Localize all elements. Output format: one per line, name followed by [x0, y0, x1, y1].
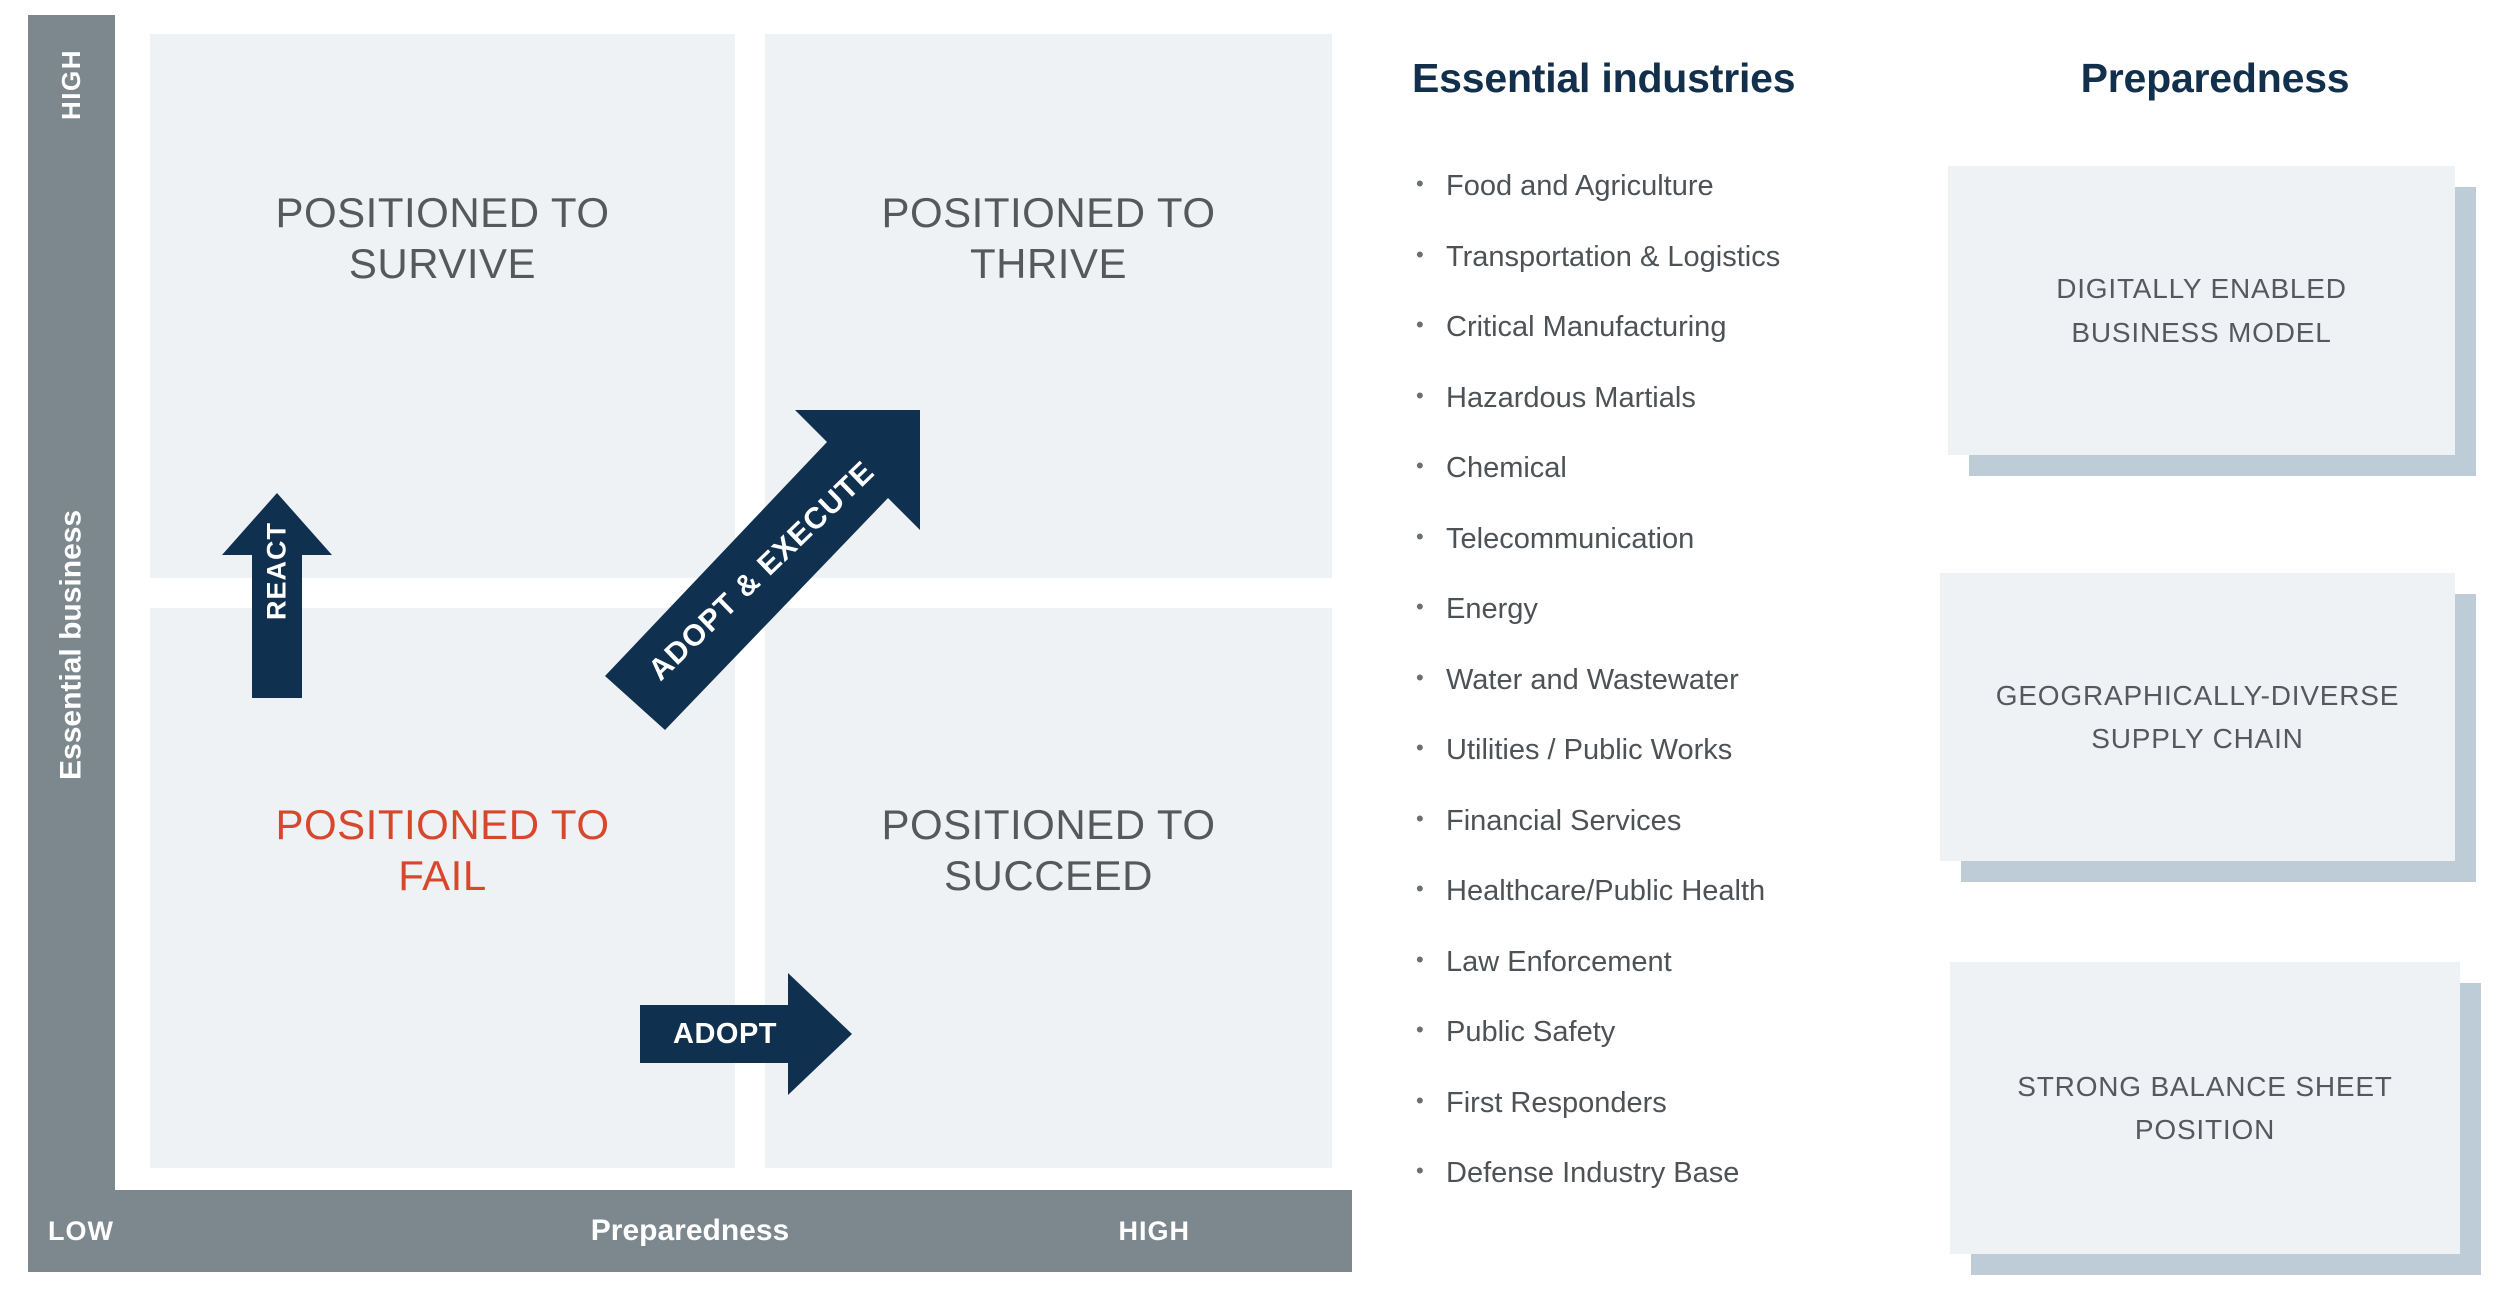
- bullet-icon: •: [1410, 311, 1446, 339]
- bullet-icon: •: [1410, 1157, 1446, 1185]
- bullet-icon: •: [1410, 241, 1446, 269]
- diagram-canvas: HIGH Essential business LOW Preparedness…: [0, 0, 2500, 1292]
- card-surface: STRONG BALANCE SHEET POSITION: [1950, 962, 2460, 1254]
- card-label-line1: GEOGRAPHICALLY-DIVERSE: [1996, 680, 2400, 711]
- preparedness-panel: Preparedness DIGITALLY ENABLED BUSINESS …: [1930, 0, 2500, 1292]
- quadrant-label-line1: POSITIONED TO: [275, 801, 609, 848]
- list-item-label: First Responders: [1446, 1087, 1667, 1120]
- bullet-icon: •: [1410, 805, 1446, 833]
- preparedness-matrix: HIGH Essential business LOW Preparedness…: [0, 0, 1370, 1292]
- list-item-label: Law Enforcement: [1446, 946, 1672, 979]
- preparedness-card[interactable]: STRONG BALANCE SHEET POSITION: [1950, 962, 2460, 1254]
- card-label-line1: STRONG BALANCE SHEET: [2017, 1071, 2392, 1102]
- list-item[interactable]: • Healthcare/Public Health: [1410, 875, 1910, 946]
- list-item-label: Healthcare/Public Health: [1446, 875, 1765, 908]
- bullet-icon: •: [1410, 170, 1446, 198]
- bullet-icon: •: [1410, 875, 1446, 903]
- adopt-execute-arrow: ADOPT & EXECUTE: [595, 390, 940, 750]
- list-item-label: Water and Wastewater: [1446, 664, 1739, 697]
- bullet-icon: •: [1410, 946, 1446, 974]
- x-axis-high-label: HIGH: [1119, 1190, 1191, 1272]
- quadrant-label-line1: POSITIONED TO: [275, 189, 609, 236]
- quadrant-label: POSITIONED TO FAIL: [275, 799, 609, 901]
- bullet-icon: •: [1410, 734, 1446, 762]
- preparedness-card[interactable]: DIGITALLY ENABLED BUSINESS MODEL: [1948, 166, 2455, 455]
- bullet-icon: •: [1410, 593, 1446, 621]
- bullet-icon: •: [1410, 452, 1446, 480]
- quadrant-label-line2: THRIVE: [970, 240, 1127, 287]
- bullet-icon: •: [1410, 523, 1446, 551]
- quadrant-label-line1: POSITIONED TO: [881, 189, 1215, 236]
- card-label: STRONG BALANCE SHEET POSITION: [2017, 1065, 2392, 1152]
- list-item-label: Energy: [1446, 593, 1538, 626]
- adopt-execute-arrow-label: ADOPT & EXECUTE: [595, 390, 940, 750]
- bullet-icon: •: [1410, 382, 1446, 410]
- list-item[interactable]: • Defense Industry Base: [1410, 1157, 1910, 1228]
- essential-industries-list: • Food and Agriculture • Transportation …: [1410, 170, 1910, 1228]
- quadrant-label-line2: SURVIVE: [349, 240, 536, 287]
- react-arrow: REACT: [222, 493, 332, 698]
- card-label: GEOGRAPHICALLY-DIVERSE SUPPLY CHAIN: [1996, 674, 2400, 761]
- quadrant-label: POSITIONED TO THRIVE: [881, 187, 1215, 289]
- list-item-label: Public Safety: [1446, 1016, 1615, 1049]
- card-label-line2: SUPPLY CHAIN: [2091, 723, 2303, 754]
- y-axis-high-label: HIGH: [28, 40, 115, 130]
- list-item[interactable]: • Public Safety: [1410, 1016, 1910, 1087]
- list-item[interactable]: • Energy: [1410, 593, 1910, 664]
- essential-industries-heading: Essential industries: [1412, 55, 1795, 102]
- bullet-icon: •: [1410, 1016, 1446, 1044]
- list-item-label: Financial Services: [1446, 805, 1681, 838]
- list-item[interactable]: • Transportation & Logistics: [1410, 241, 1910, 312]
- list-item[interactable]: • Utilities / Public Works: [1410, 734, 1910, 805]
- list-item-label: Transportation & Logistics: [1446, 241, 1780, 274]
- preparedness-heading: Preparedness: [1930, 55, 2500, 102]
- list-item[interactable]: • Financial Services: [1410, 805, 1910, 876]
- card-label-line2: BUSINESS MODEL: [2071, 317, 2331, 348]
- adopt-arrow: ADOPT: [640, 973, 852, 1095]
- react-arrow-label: REACT: [222, 493, 332, 698]
- y-axis-title: Essential business: [28, 480, 115, 810]
- quadrant-label-line1: POSITIONED TO: [881, 801, 1215, 848]
- list-item[interactable]: • Chemical: [1410, 452, 1910, 523]
- list-item-label: Food and Agriculture: [1446, 170, 1714, 203]
- quadrant-label: POSITIONED TO SURVIVE: [275, 187, 609, 289]
- list-item-label: Defense Industry Base: [1446, 1157, 1739, 1190]
- list-item-label: Chemical: [1446, 452, 1567, 485]
- list-item-label: Utilities / Public Works: [1446, 734, 1732, 767]
- bullet-icon: •: [1410, 1087, 1446, 1115]
- list-item[interactable]: • Telecommunication: [1410, 523, 1910, 594]
- quadrant-label: POSITIONED TO SUCCEED: [881, 799, 1215, 901]
- list-item-label: Critical Manufacturing: [1446, 311, 1726, 344]
- card-label-line2: POSITION: [2135, 1114, 2275, 1145]
- list-item-label: Hazardous Martials: [1446, 382, 1696, 415]
- list-item[interactable]: • First Responders: [1410, 1087, 1910, 1158]
- card-label: DIGITALLY ENABLED BUSINESS MODEL: [2056, 267, 2347, 354]
- essential-industries-panel: Essential industries • Food and Agricult…: [1400, 0, 1920, 1292]
- card-label-line1: DIGITALLY ENABLED: [2056, 273, 2347, 304]
- list-item[interactable]: • Critical Manufacturing: [1410, 311, 1910, 382]
- quadrant-label-line2: SUCCEED: [944, 852, 1153, 899]
- list-item[interactable]: • Food and Agriculture: [1410, 170, 1910, 241]
- preparedness-card[interactable]: GEOGRAPHICALLY-DIVERSE SUPPLY CHAIN: [1940, 573, 2455, 861]
- list-item-label: Telecommunication: [1446, 523, 1694, 556]
- adopt-arrow-label: ADOPT: [640, 973, 810, 1095]
- bullet-icon: •: [1410, 664, 1446, 692]
- list-item[interactable]: • Law Enforcement: [1410, 946, 1910, 1017]
- quadrant-label-line2: FAIL: [398, 852, 486, 899]
- card-surface: GEOGRAPHICALLY-DIVERSE SUPPLY CHAIN: [1940, 573, 2455, 861]
- list-item[interactable]: • Water and Wastewater: [1410, 664, 1910, 735]
- list-item[interactable]: • Hazardous Martials: [1410, 382, 1910, 453]
- card-surface: DIGITALLY ENABLED BUSINESS MODEL: [1948, 166, 2455, 455]
